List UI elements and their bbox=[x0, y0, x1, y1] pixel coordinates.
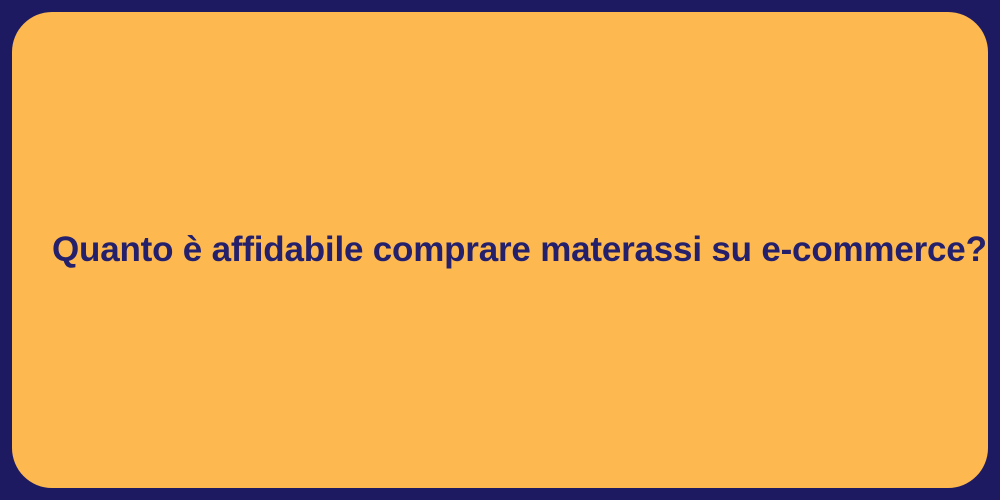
headline-card-panel: Quanto è affidabile comprare materassi s… bbox=[12, 12, 988, 488]
banner-root: Quanto è affidabile comprare materassi s… bbox=[0, 0, 1000, 500]
headline-text: Quanto è affidabile comprare materassi s… bbox=[12, 229, 988, 271]
